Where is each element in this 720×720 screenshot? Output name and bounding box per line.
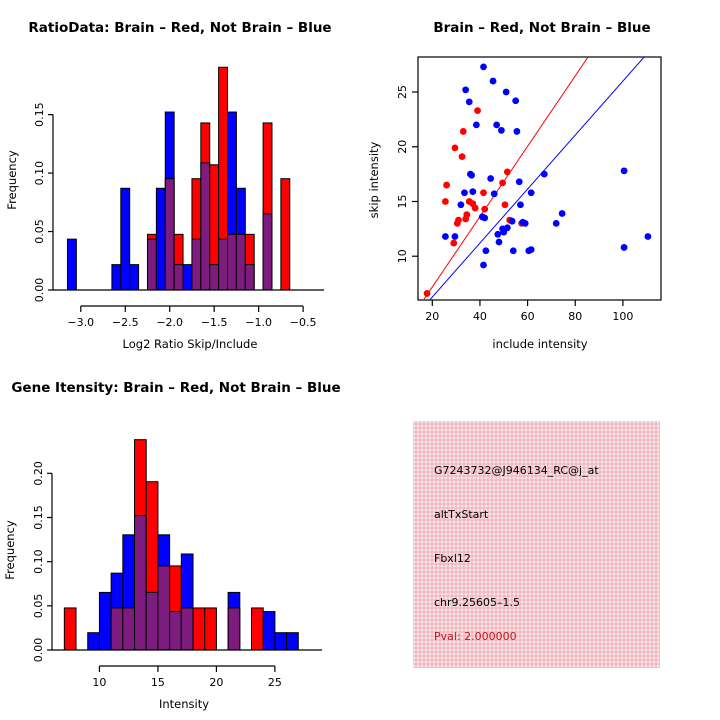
histogram-bar	[281, 179, 290, 290]
histogram-bar-overlap	[201, 163, 210, 290]
scatter-point	[494, 231, 501, 238]
tick-label: 0.10	[32, 549, 45, 574]
gene-histogram-bars	[64, 440, 298, 650]
histogram-bar-overlap	[165, 179, 174, 290]
histogram-bar-overlap	[135, 516, 147, 650]
scatter-point	[461, 189, 468, 196]
histogram-bar	[121, 188, 130, 290]
info-probeset: G7243732@J946134_RC@j_at	[434, 464, 599, 477]
scatter-point	[474, 107, 481, 114]
ratio-histogram-svg: RatioData: Brain – Red, Not Brain – Blue…	[0, 0, 360, 360]
ratio-histogram-xlabel: Log2 Ratio Skip/Include	[123, 337, 258, 351]
tick-label: 20	[209, 676, 223, 689]
histogram-bar	[67, 239, 76, 290]
scatter-point	[499, 179, 506, 186]
tick-label: −1.5	[201, 316, 228, 329]
scatter-point	[466, 98, 473, 105]
histogram-bar-overlap	[219, 239, 228, 290]
scatter-ylabel: skip intensity	[367, 141, 381, 218]
scatter-point	[504, 224, 511, 231]
scatter-point	[512, 97, 519, 104]
histogram-bar	[205, 608, 217, 650]
scatter-point	[452, 144, 459, 151]
histogram-bar-overlap	[245, 265, 254, 290]
ratio-histogram-bars	[67, 67, 289, 290]
tick-label: 10	[396, 249, 409, 263]
histogram-bar	[112, 265, 121, 290]
tick-label: 0.15	[32, 505, 45, 530]
tick-label: 25	[268, 676, 282, 689]
histogram-bar-overlap	[228, 234, 237, 290]
gene-histogram-xlabel: Intensity	[159, 697, 209, 711]
histogram-bar-overlap	[263, 214, 272, 290]
scatter-point	[455, 217, 462, 224]
histogram-bar	[156, 188, 165, 290]
scatter-point	[490, 78, 497, 85]
scatter-point	[442, 198, 449, 205]
tick-label: 40	[473, 310, 487, 323]
gene-histogram-svg: Gene Itensity: Brain – Red, Not Brain – …	[0, 360, 360, 720]
tick-label: 10	[92, 676, 106, 689]
gene-histogram-title: Gene Itensity: Brain – Red, Not Brain – …	[11, 380, 340, 396]
tick-label: 15	[396, 194, 409, 208]
scatter-point	[483, 247, 490, 254]
histogram-bar-overlap	[236, 234, 245, 290]
scatter-point	[498, 127, 505, 134]
scatter-point	[424, 290, 431, 297]
scatter-point	[452, 233, 459, 240]
tick-label: −2.0	[156, 316, 183, 329]
histogram-bar	[193, 608, 205, 650]
tick-label: 80	[568, 310, 582, 323]
scatter-point	[510, 247, 517, 254]
info-event-type: altTxStart	[434, 508, 488, 521]
tick-label: −0.5	[290, 316, 317, 329]
scatter-point	[473, 121, 480, 128]
tick-label: 20	[425, 310, 439, 323]
histogram-bar	[88, 633, 100, 650]
scatter-xlabel: include intensity	[492, 337, 587, 351]
plot-frame	[418, 57, 661, 300]
tick-label: −3.0	[67, 316, 94, 329]
tick-label: 20	[396, 140, 409, 154]
scatter-points	[424, 63, 652, 296]
histogram-bar-overlap	[174, 265, 183, 290]
info-locus: chr9.25605–1.5	[434, 596, 520, 609]
scatter-point	[645, 233, 652, 240]
tick-label: −2.5	[112, 316, 139, 329]
scatter-point	[469, 188, 476, 195]
scatter-point	[509, 218, 516, 225]
scatter-point	[481, 215, 488, 222]
scatter-point	[528, 246, 535, 253]
scatter-point	[472, 205, 479, 212]
scatter-point	[516, 178, 523, 185]
gene-info-panel: G7243732@J946134_RC@j_at altTxStart Fbxl…	[413, 421, 660, 668]
scatter-title: Brain – Red, Not Brain – Blue	[433, 20, 650, 36]
histogram-bar	[287, 633, 299, 650]
ratio-histogram-ylabel: Frequency	[5, 150, 19, 210]
scatter-point	[443, 182, 450, 189]
tick-label: 0.20	[32, 461, 45, 486]
scatter-frame	[418, 57, 661, 300]
tick-label: 0.00	[32, 638, 45, 663]
histogram-bar	[263, 612, 275, 650]
histogram-bar-overlap	[181, 608, 193, 650]
tick-label: 15	[151, 676, 165, 689]
histogram-bar-overlap	[170, 612, 182, 650]
scatter-point	[487, 175, 494, 182]
gene-histogram-panel: Gene Itensity: Brain – Red, Not Brain – …	[0, 360, 360, 720]
scatter-point	[496, 239, 503, 246]
scatter-point	[460, 128, 467, 135]
scatter-point	[522, 220, 529, 227]
scatter-point	[480, 189, 487, 196]
tick-label: −1.0	[245, 316, 272, 329]
histogram-bar-overlap	[228, 608, 240, 650]
scatter-point	[513, 128, 520, 135]
histogram-bar	[252, 608, 264, 650]
scatter-point	[541, 171, 548, 178]
tick-label: 0.00	[33, 278, 46, 303]
scatter-point	[481, 206, 488, 213]
scatter-panel: Brain – Red, Not Brain – Blue skip inten…	[360, 0, 720, 360]
scatter-point	[468, 172, 475, 179]
histogram-bar	[99, 592, 111, 650]
scatter-point	[553, 220, 560, 227]
scatter-point	[621, 244, 628, 251]
histogram-bar-overlap	[158, 566, 170, 650]
scatter-point	[491, 190, 498, 197]
tick-label: 25	[396, 85, 409, 99]
scatter-point	[459, 153, 466, 160]
scatter-svg: Brain – Red, Not Brain – Blue skip inten…	[360, 0, 720, 360]
scatter-point	[559, 210, 566, 217]
scatter-point	[442, 233, 449, 240]
histogram-bar-overlap	[147, 239, 156, 290]
histogram-bar	[130, 265, 139, 290]
scatter-point	[480, 262, 487, 269]
gene-histogram-ylabel: Frequency	[3, 520, 17, 580]
info-pval: Pval: 2.000000	[434, 630, 517, 643]
scatter-point	[463, 211, 470, 218]
tick-label: 0.05	[32, 594, 45, 619]
scatter-point	[504, 169, 511, 176]
scatter-point	[480, 63, 487, 70]
histogram-bar-overlap	[192, 239, 201, 290]
info-gene-name: Fbxl12	[434, 552, 471, 565]
scatter-point	[528, 189, 535, 196]
tick-label: 60	[521, 310, 535, 323]
histogram-bar	[64, 608, 76, 650]
scatter-point	[462, 86, 469, 93]
scatter-point	[517, 201, 524, 208]
ratio-histogram-panel: RatioData: Brain – Red, Not Brain – Blue…	[0, 0, 360, 360]
scatter-point	[457, 201, 464, 208]
scatter-point	[493, 121, 500, 128]
histogram-bar-overlap	[210, 265, 219, 290]
scatter-fit-lines	[423, 46, 654, 301]
scatter-point	[503, 89, 510, 96]
histogram-bar-overlap	[111, 608, 123, 650]
tick-label: 100	[612, 310, 633, 323]
ratio-histogram-title: RatioData: Brain – Red, Not Brain – Blue	[28, 20, 331, 36]
scatter-point	[621, 167, 628, 174]
tick-label: 0.15	[33, 102, 46, 127]
histogram-bar	[275, 633, 287, 650]
histogram-bar	[183, 265, 192, 290]
scatter-point	[450, 240, 457, 247]
histogram-bar-overlap	[123, 608, 135, 650]
ratio-histogram-axes: 0.000.050.100.15−3.0−2.5−2.0−1.5−1.0−0.5	[33, 102, 324, 329]
tick-label: 0.05	[33, 219, 46, 244]
histogram-bar-overlap	[146, 592, 158, 650]
tick-label: 0.10	[33, 161, 46, 186]
scatter-point	[502, 201, 509, 208]
